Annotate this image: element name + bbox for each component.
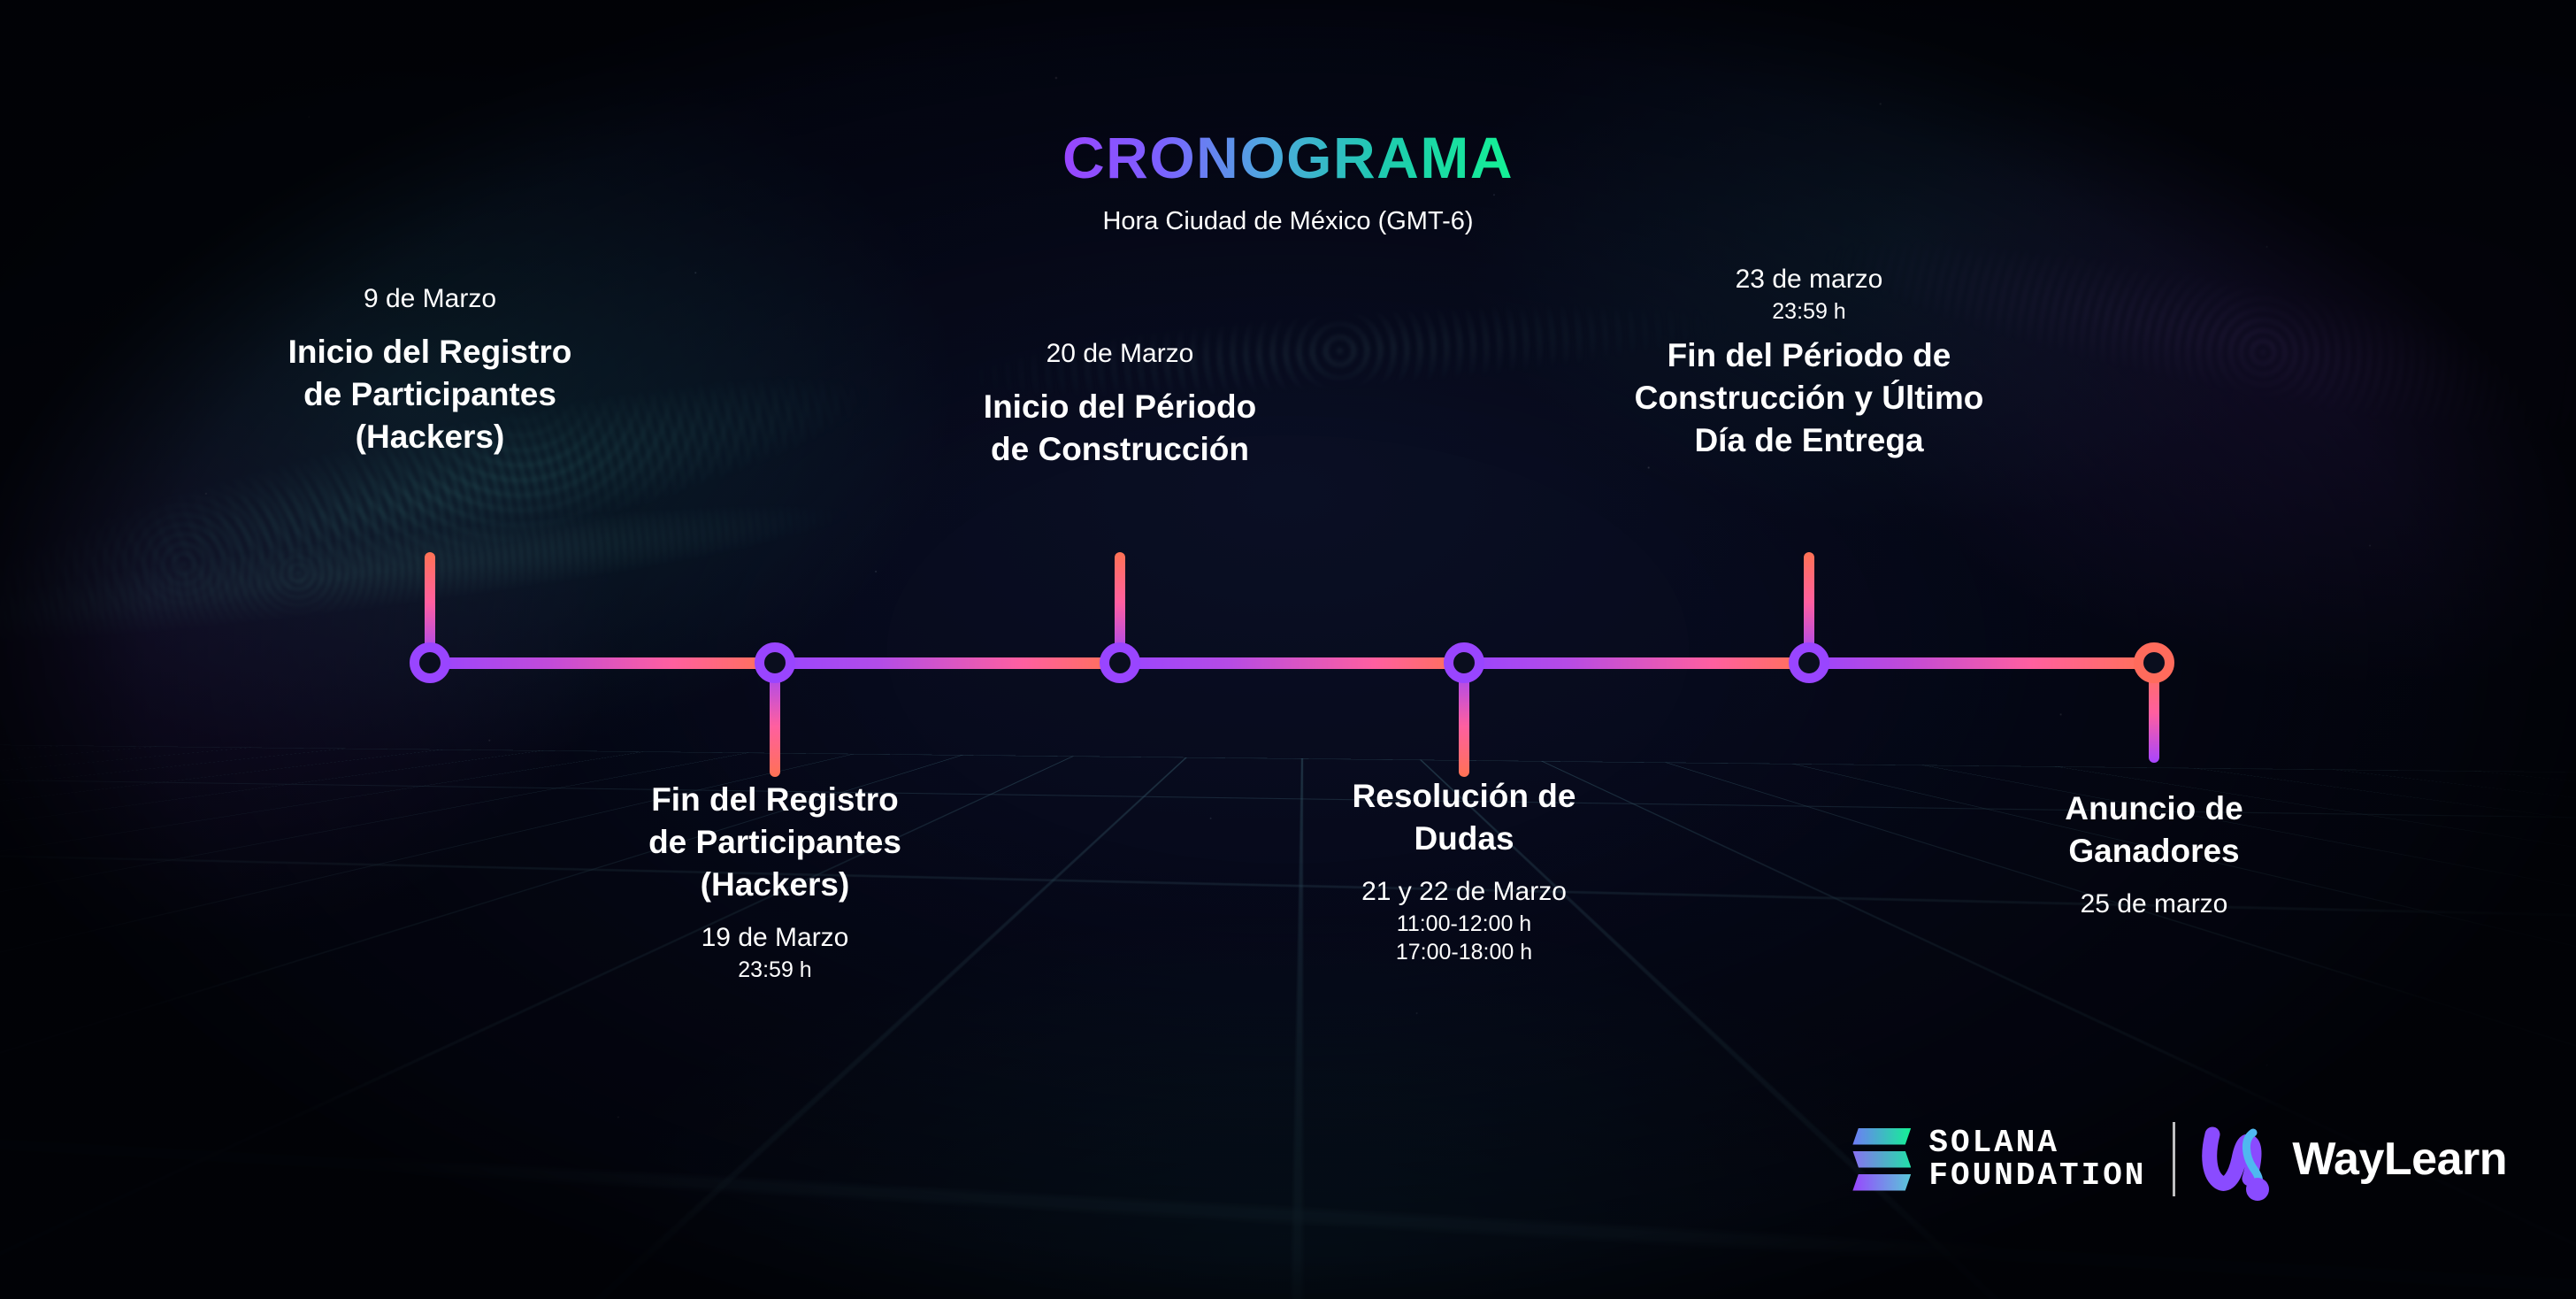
solana-bar-bottom <box>1852 1174 1911 1191</box>
timeline-segment-4 <box>1464 657 1809 669</box>
milestone-4-date: 21 y 22 de Marzo <box>1243 874 1685 910</box>
timeline-segment-1 <box>430 657 775 669</box>
timeline-node-4[interactable] <box>1444 642 1484 683</box>
milestone-2-label: Fin del Registro de Participantes (Hacke… <box>554 779 996 984</box>
footer-logos: SOLANA FOUNDATION WayLearn <box>1852 1117 2507 1202</box>
milestone-5-date: 23 de marzo <box>1544 262 2074 297</box>
milestone-4-title-line2: Dudas <box>1243 818 1685 860</box>
milestone-3-label: 20 de Marzo Inicio del Périodo de Constr… <box>899 336 1341 471</box>
solana-mark-icon <box>1852 1128 1911 1191</box>
milestone-1-title-line3: (Hackers) <box>209 416 651 458</box>
milestone-5-time: 23:59 h <box>1544 297 2074 327</box>
waylearn-mark-icon <box>2202 1117 2283 1202</box>
milestone-2-title-line2: de Participantes <box>554 821 996 864</box>
milestone-4-time-2: 17:00-18:00 h <box>1243 938 1685 967</box>
milestone-5-label: 23 de marzo 23:59 h Fin del Périodo de C… <box>1544 262 2074 462</box>
solana-wordmark: SOLANA FOUNDATION <box>1928 1126 2146 1193</box>
solana-foundation-logo: SOLANA FOUNDATION <box>1852 1126 2146 1193</box>
milestone-3-title-line1: Inicio del Périodo <box>899 386 1341 428</box>
solana-bar-top <box>1852 1128 1911 1145</box>
milestone-2-time: 23:59 h <box>554 956 996 985</box>
milestone-5-title-line1: Fin del Périodo de <box>1544 334 2074 377</box>
milestone-6-date: 25 de marzo <box>1933 887 2375 922</box>
timeline-node-1[interactable] <box>410 642 450 683</box>
milestone-2-date: 19 de Marzo <box>554 920 996 956</box>
waylearn-logo: WayLearn <box>2202 1117 2507 1202</box>
timeline-node-5[interactable] <box>1789 642 1829 683</box>
poster-header: CRONOGRAMA Hora Ciudad de México (GMT-6) <box>0 124 2576 236</box>
solana-wordmark-line1: SOLANA <box>1928 1126 2146 1159</box>
page-title: CRONOGRAMA <box>1062 124 1514 191</box>
milestone-4-time-1: 11:00-12:00 h <box>1243 910 1685 939</box>
waylearn-dot-icon <box>2246 1178 2269 1201</box>
milestone-5-title-line3: Día de Entrega <box>1544 419 2074 462</box>
timeline-segment-2 <box>775 657 1120 669</box>
solana-bar-middle <box>1852 1151 1911 1168</box>
milestone-5-title-line2: Construcción y Último <box>1544 377 2074 419</box>
page-subtitle: Hora Ciudad de México (GMT-6) <box>0 207 2576 236</box>
timeline-segment-5 <box>1809 657 2154 669</box>
solana-wordmark-line2: FOUNDATION <box>1928 1159 2146 1192</box>
milestone-6-title-line1: Anuncio de <box>1933 788 2375 830</box>
milestone-4-label: Resolución de Dudas 21 y 22 de Marzo 11:… <box>1243 775 1685 967</box>
milestone-1-label: 9 de Marzo Inicio del Registro de Partic… <box>209 281 651 458</box>
logo-divider <box>2173 1122 2175 1196</box>
timeline-node-2[interactable] <box>755 642 795 683</box>
milestone-1-title-line1: Inicio del Registro <box>209 331 651 373</box>
milestone-1-date: 9 de Marzo <box>209 281 651 317</box>
milestone-2-title-line3: (Hackers) <box>554 864 996 906</box>
timeline-segment-3 <box>1120 657 1464 669</box>
timeline-node-6[interactable] <box>2134 642 2174 683</box>
waylearn-wordmark: WayLearn <box>2292 1133 2507 1186</box>
milestone-1-title-line2: de Participantes <box>209 373 651 416</box>
timeline-node-3[interactable] <box>1100 642 1140 683</box>
milestone-3-date: 20 de Marzo <box>899 336 1341 372</box>
cronograma-poster: CRONOGRAMA Hora Ciudad de México (GMT-6)… <box>0 0 2576 1299</box>
milestone-3-title-line2: de Construcción <box>899 428 1341 471</box>
milestone-2-title-line1: Fin del Registro <box>554 779 996 821</box>
milestone-6-title-line2: Ganadores <box>1933 830 2375 872</box>
milestone-6-label: Anuncio de Ganadores 25 de marzo <box>1933 788 2375 922</box>
milestone-4-title-line1: Resolución de <box>1243 775 1685 818</box>
